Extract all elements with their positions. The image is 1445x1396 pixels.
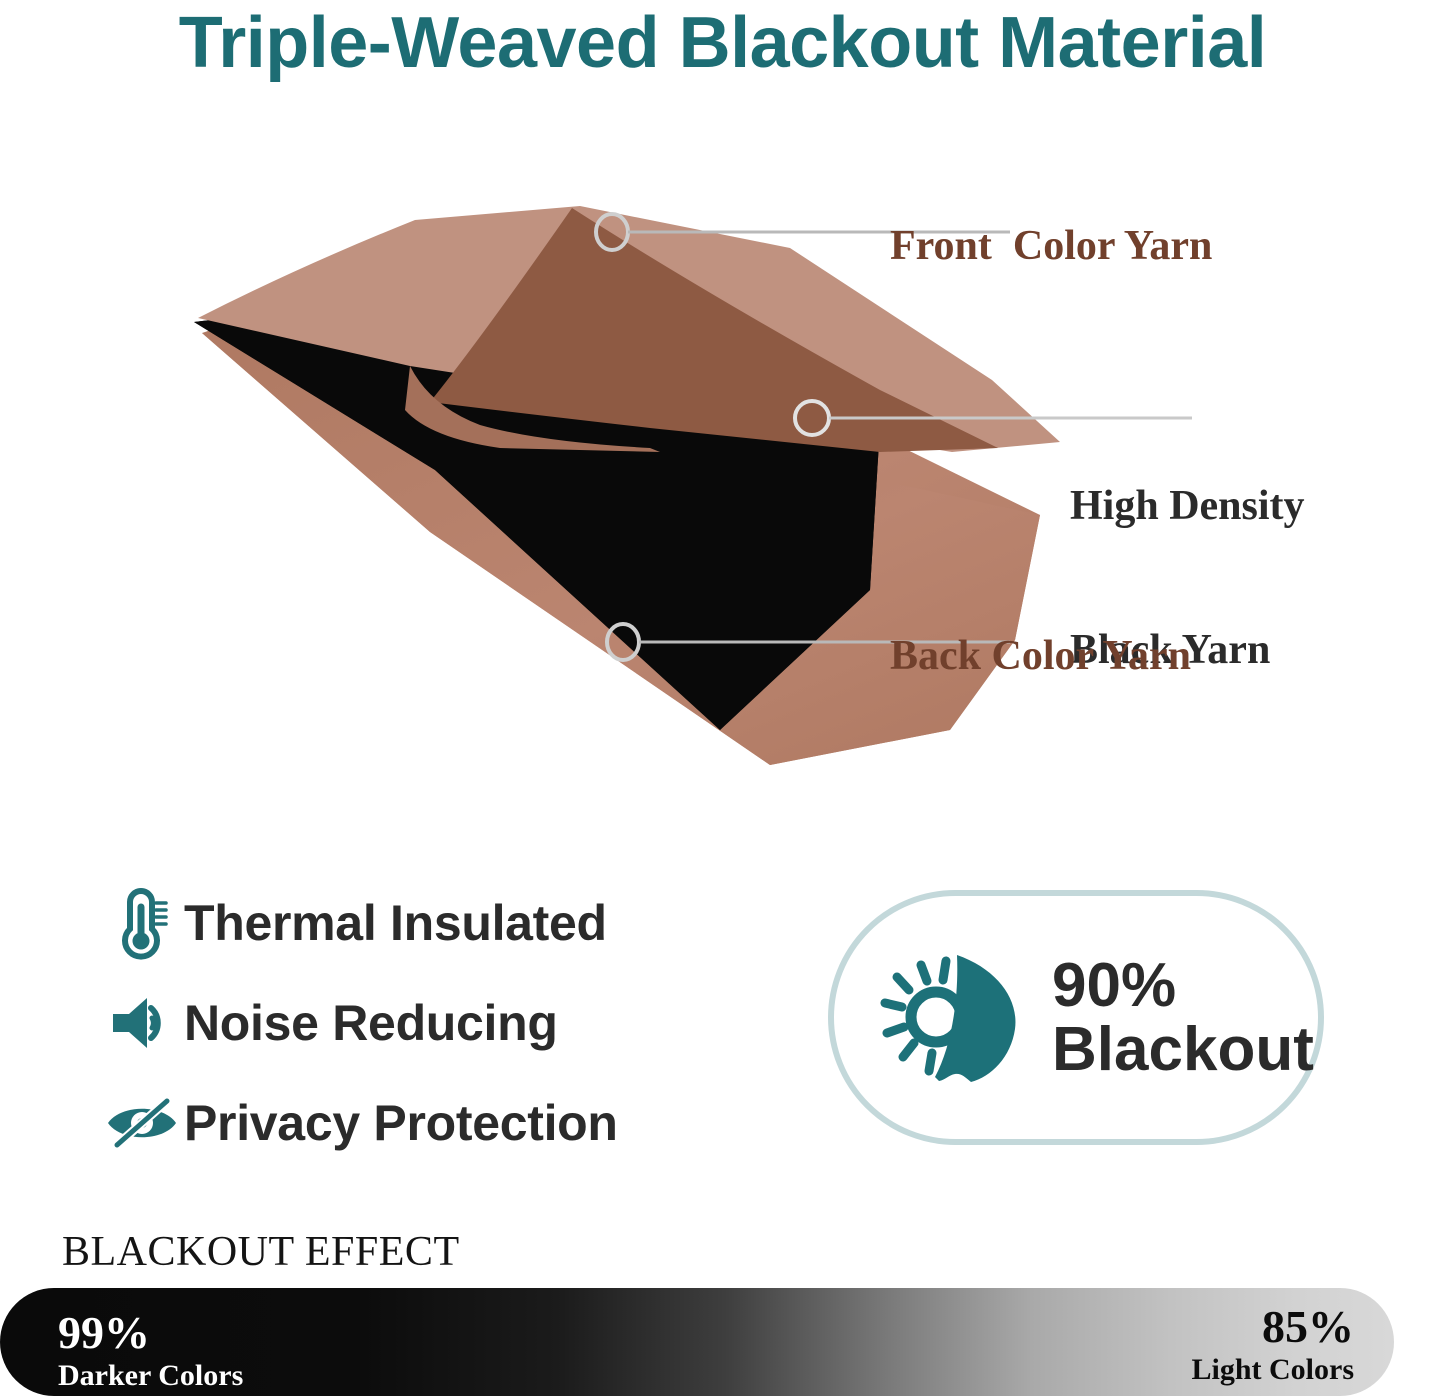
label-back-color-yarn: Back Color Yarn [890, 632, 1191, 680]
label-black-line1: High Density [1070, 482, 1305, 530]
effect-light-percent: 85% [1191, 1302, 1354, 1352]
effect-light-caption: Light Colors [1191, 1352, 1354, 1388]
feature-item-thermal-insulated: Thermal Insulated [100, 880, 740, 966]
feature-label-thermal-insulated: Thermal Insulated [184, 895, 607, 951]
eye-off-icon [100, 1095, 184, 1151]
badge-text-block: 90% Blackout [1052, 954, 1314, 1082]
speaker-icon [100, 992, 184, 1054]
feature-item-privacy-protection: Privacy Protection [100, 1080, 740, 1166]
effect-dark-percent: 99% [58, 1308, 243, 1358]
effect-dark-end: 99% Darker Colors [58, 1308, 243, 1394]
feature-item-noise-reducing: Noise Reducing [100, 980, 740, 1066]
feature-list: Thermal Insulated Noise Reducing Privacy… [100, 880, 740, 1180]
label-front-color-yarn: Front Color Yarn [890, 222, 1212, 270]
blackout-percentage-badge: 90% Blackout [828, 890, 1324, 1145]
feature-label-noise-reducing: Noise Reducing [184, 995, 558, 1051]
feature-label-privacy-protection: Privacy Protection [184, 1095, 618, 1151]
page-title: Triple-Weaved Blackout Material [0, 2, 1445, 84]
blackout-effect-heading: BLACKOUT EFFECT [62, 1228, 460, 1276]
effect-light-end: 85% Light Colors [1191, 1302, 1354, 1388]
blackout-effect-gradient-bar: 99% Darker Colors 85% Light Colors [0, 1288, 1394, 1396]
effect-dark-caption: Darker Colors [58, 1358, 243, 1394]
badge-label: Blackout [1052, 1018, 1314, 1082]
badge-percent: 90% [1052, 954, 1314, 1018]
sun-blocked-icon [870, 947, 1038, 1089]
thermometer-icon [100, 885, 184, 961]
